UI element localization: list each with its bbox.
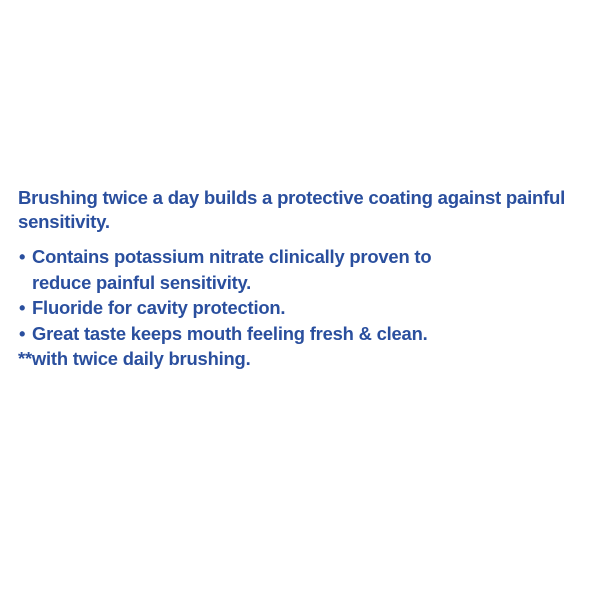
product-description-panel: Brushing twice a day builds a protective… <box>0 0 600 600</box>
list-item: • Fluoride for cavity protection. <box>18 295 432 321</box>
benefit-list: • Contains potassium nitrate clinically … <box>18 244 598 346</box>
footnote-text: **with twice daily brushing. <box>18 346 598 372</box>
list-item-label: Contains potassium nitrate clinically pr… <box>32 246 431 293</box>
list-item-label: Great taste keeps mouth feeling fresh & … <box>32 323 428 344</box>
list-item: • Great taste keeps mouth feeling fresh … <box>18 321 432 347</box>
bullet-dot-icon: • <box>19 244 25 270</box>
list-item-label: Fluoride for cavity protection. <box>32 297 285 318</box>
headline-text: Brushing twice a day builds a protective… <box>18 186 598 233</box>
bullet-dot-icon: • <box>19 295 25 321</box>
bullet-dot-icon: • <box>19 321 25 347</box>
list-item: • Contains potassium nitrate clinically … <box>18 244 432 295</box>
copy-container: Brushing twice a day builds a protective… <box>18 186 598 372</box>
